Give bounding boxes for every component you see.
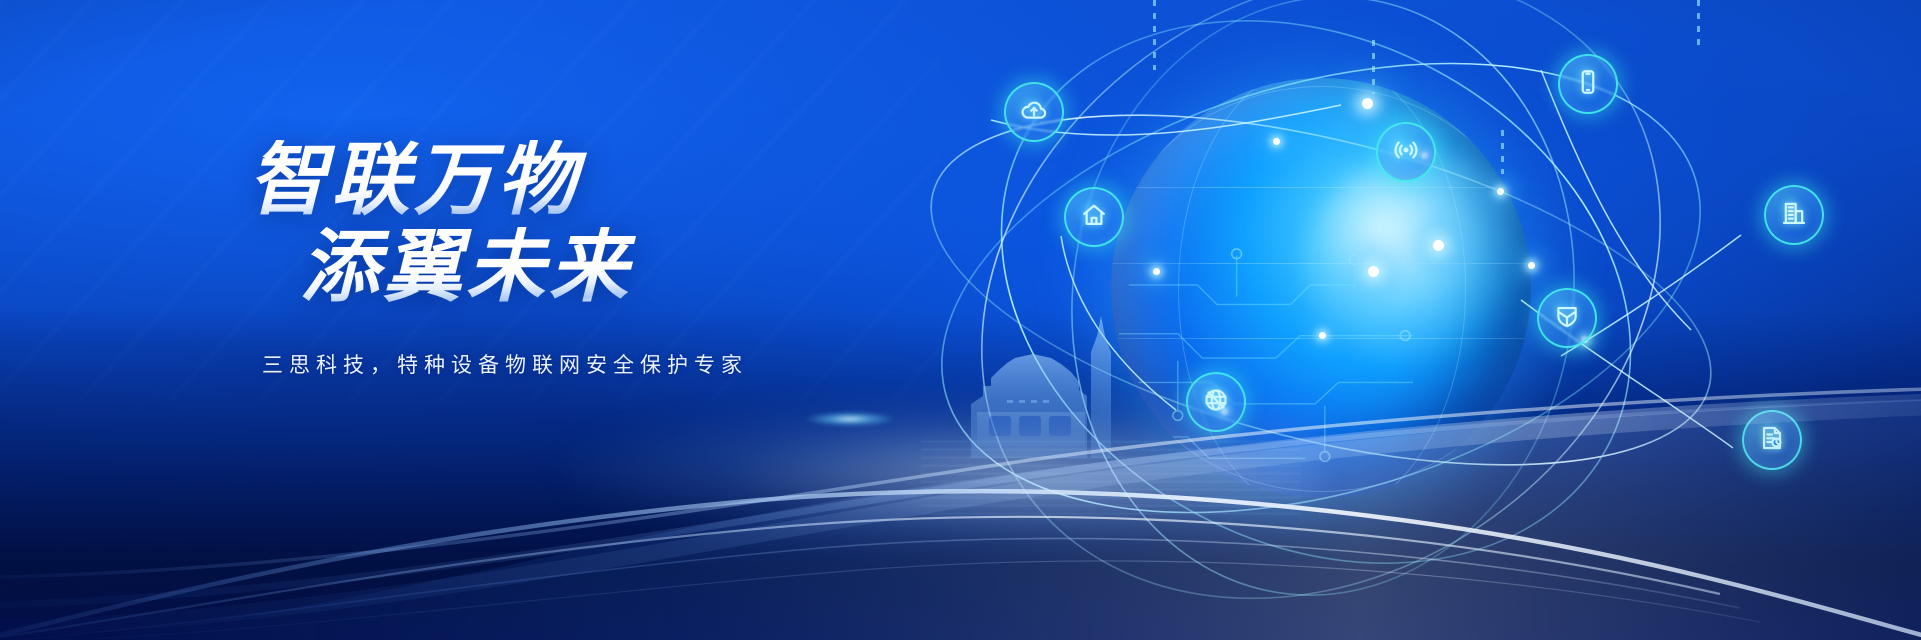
trail-glow [560, 394, 1320, 544]
dotted-connector [1501, 130, 1504, 174]
node-icon-cloud-upload[interactable] [1004, 82, 1064, 142]
network-node-dot [1368, 266, 1379, 277]
page-subtitle: 三思科技，特种设备物联网安全保护专家 [262, 349, 888, 379]
page-title-line-2: 添翼未来 [300, 227, 888, 308]
mobile-phone-icon [1574, 68, 1602, 101]
headline-block: 智联万物 添翼未来 三思科技，特种设备物联网安全保护专家 [248, 140, 888, 379]
dotted-connector [1697, 0, 1700, 46]
wifi-signal-icon [1392, 136, 1420, 169]
page-title-line-1: 智联万物 [248, 140, 888, 221]
dotted-connector [1153, 0, 1156, 70]
network-node-dot [1153, 268, 1160, 275]
shield-icon [1553, 302, 1581, 335]
cloud-upload-icon [1020, 96, 1048, 129]
node-icon-home[interactable] [1064, 187, 1124, 247]
network-node-dot [1433, 240, 1444, 251]
dotted-connector [1372, 40, 1375, 94]
home-icon [1080, 201, 1108, 234]
network-node-dot [1273, 138, 1280, 145]
hero-banner: 智联万物 添翼未来 三思科技，特种设备物联网安全保护专家 [0, 0, 1921, 640]
network-node-dot [1319, 332, 1326, 339]
network-node-dot [1497, 188, 1504, 195]
node-icon-wifi-signal[interactable] [1376, 122, 1436, 182]
node-icon-shield[interactable] [1537, 288, 1597, 348]
node-icon-building[interactable] [1764, 185, 1824, 245]
light-spark [805, 412, 895, 426]
network-node-dot [1362, 98, 1373, 109]
node-icon-mobile-phone[interactable] [1558, 54, 1618, 114]
building-icon [1780, 199, 1808, 232]
network-node-dot [1528, 262, 1535, 269]
